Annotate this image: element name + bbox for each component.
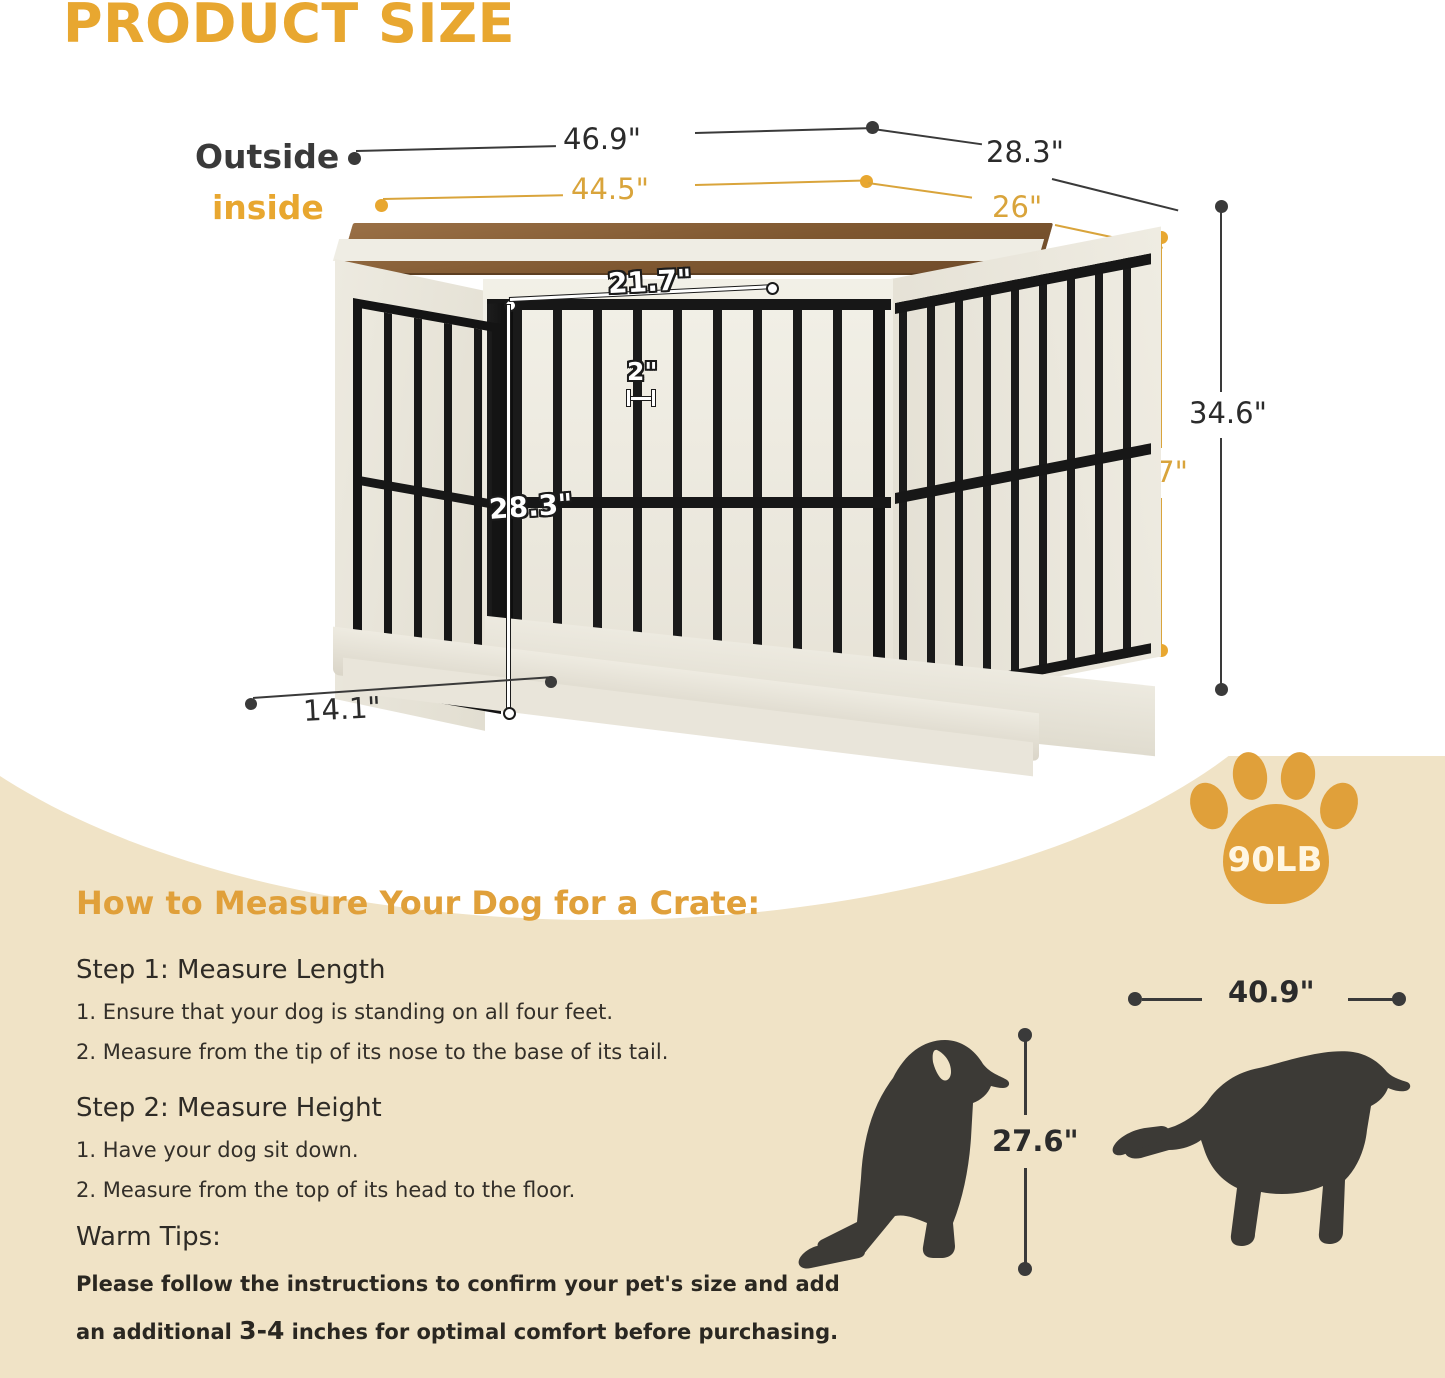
door-width-right-dot bbox=[766, 282, 779, 295]
sit-height-bottom-dot bbox=[1018, 1262, 1032, 1276]
std-length-line-right bbox=[1348, 998, 1398, 1001]
paw-toe-2 bbox=[1230, 750, 1270, 802]
paw-toe-4 bbox=[1313, 777, 1364, 835]
warm-tips-line-2: an additional 3-4 inches for optimal com… bbox=[76, 1316, 838, 1345]
std-length-right-dot bbox=[1392, 992, 1406, 1006]
warm-tips-line-2-prefix: an additional bbox=[76, 1320, 239, 1344]
step-1-line-2: 2. Measure from the tip of its nose to t… bbox=[76, 1040, 668, 1064]
dim-outside-height: 34.6" bbox=[1189, 396, 1267, 430]
dim-outside-width: 46.9" bbox=[563, 122, 641, 156]
outside-width-line-right bbox=[695, 127, 875, 134]
step-1-title: Step 1: Measure Length bbox=[76, 955, 385, 985]
infographic-root: PRODUCT SIZE Outside inside 46.9" 28.3" … bbox=[0, 0, 1445, 1378]
outside-height-line-bottom bbox=[1220, 438, 1222, 685]
door-height-line bbox=[507, 305, 510, 710]
warm-tips-line-2-suffix: inches for optimal comfort before purcha… bbox=[284, 1320, 838, 1344]
weight-badge-label: 90LB bbox=[1185, 840, 1365, 880]
legend-outside-label: Outside bbox=[195, 137, 339, 176]
inside-width-line-left bbox=[383, 194, 563, 200]
step-2-line-1: 1. Have your dog sit down. bbox=[76, 1138, 359, 1162]
bar-gap-tick-right bbox=[652, 390, 655, 406]
std-length-left-dot bbox=[1128, 992, 1142, 1006]
step-2-title: Step 2: Measure Height bbox=[76, 1093, 382, 1123]
std-length-line-left bbox=[1142, 998, 1202, 1001]
inside-width-line-right bbox=[695, 180, 865, 186]
page-title: PRODUCT SIZE bbox=[63, 0, 515, 55]
dim-door-width: 21.7" bbox=[607, 263, 692, 300]
outside-depth-line-right bbox=[1052, 178, 1179, 211]
bar-gap-tick-left bbox=[627, 390, 630, 406]
dim-dog-sitting-height: 27.6" bbox=[992, 1124, 1079, 1158]
warm-tips-line-1: Please follow the instructions to confir… bbox=[76, 1272, 840, 1296]
inside-depth-line-left bbox=[868, 182, 972, 199]
outside-height-bottom-dot bbox=[1215, 683, 1228, 696]
dim-side-door-width: 14.1" bbox=[302, 690, 382, 728]
bar-gap-arrow bbox=[628, 397, 654, 400]
side-width-left-dot bbox=[245, 698, 257, 710]
sit-height-line-bottom bbox=[1024, 1168, 1027, 1264]
dim-outside-depth: 28.3" bbox=[986, 135, 1064, 169]
dim-inside-width: 44.5" bbox=[571, 172, 649, 206]
dim-door-height: 28.3" bbox=[488, 487, 574, 526]
warm-tips-title: Warm Tips: bbox=[76, 1222, 221, 1252]
crate-right-grille bbox=[895, 253, 1151, 703]
dim-dog-standing-length: 40.9" bbox=[1228, 975, 1315, 1009]
howto-heading: How to Measure Your Dog for a Crate: bbox=[76, 884, 760, 922]
dim-bar-gap: 2" bbox=[627, 357, 657, 386]
outside-width-left-dot bbox=[348, 152, 361, 165]
step-1-line-1: 1. Ensure that your dog is standing on a… bbox=[76, 1000, 613, 1024]
inside-width-left-dot bbox=[375, 199, 388, 212]
warm-tips-line-1-text: Please follow the instructions to confir… bbox=[76, 1272, 840, 1296]
door-height-bottom-dot bbox=[503, 707, 516, 720]
side-width-right-dot bbox=[545, 676, 557, 688]
dog-standing-silhouette-icon bbox=[1105, 1000, 1415, 1285]
weight-badge: 90LB bbox=[1185, 752, 1365, 912]
outside-height-line-top bbox=[1220, 207, 1222, 392]
outside-depth-line-left bbox=[873, 128, 982, 145]
sit-height-line-top bbox=[1024, 1040, 1027, 1115]
step-2-line-2: 2. Measure from the top of its head to t… bbox=[76, 1178, 575, 1202]
paw-toe-3 bbox=[1278, 750, 1318, 802]
warm-tips-extra-inches: 3-4 bbox=[239, 1316, 284, 1345]
outside-width-line-left bbox=[356, 145, 556, 152]
paw-toe-1 bbox=[1183, 777, 1234, 835]
